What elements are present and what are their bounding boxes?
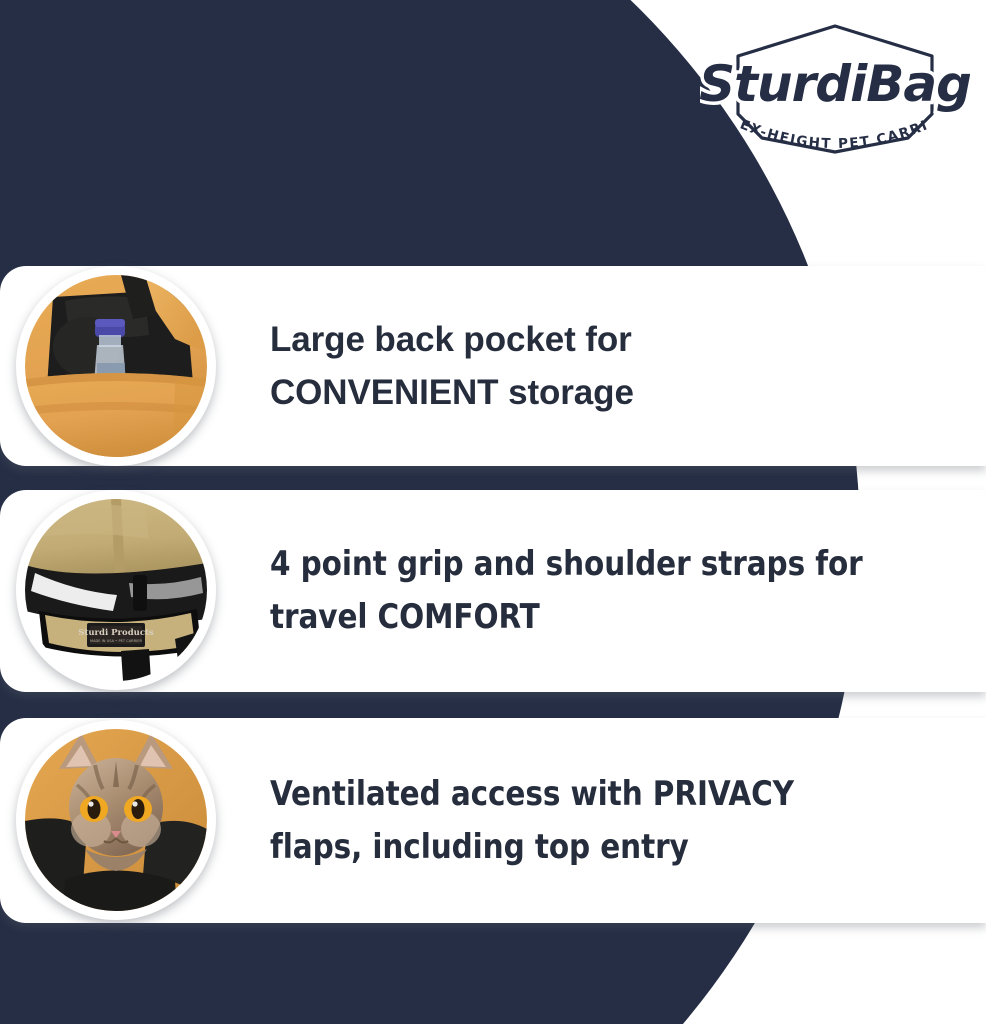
feature-thumb-grip-straps: Sturdi Products MADE IN USA • PET CARRIE… bbox=[16, 490, 216, 690]
feature-text-ventilated-access: Ventilated access with PRIVACY flaps, in… bbox=[270, 768, 947, 874]
kitten-in-carrier-photo bbox=[25, 729, 207, 911]
feature-text-grip-straps: 4 point grip and shoulder straps for tra… bbox=[270, 538, 947, 644]
feature-line-1: Large back pocket for bbox=[270, 313, 972, 366]
shoulder-strap-label-photo: Sturdi Products MADE IN USA • PET CARRIE… bbox=[25, 499, 207, 681]
feature-line-1: Ventilated access with PRIVACY bbox=[270, 768, 947, 821]
feature-line-2: flaps, including top entry bbox=[270, 821, 947, 874]
sturdi-products-label: Sturdi Products bbox=[78, 628, 154, 638]
feature-thumb-ventilated-access bbox=[16, 720, 216, 920]
logo-wordmark: SturdiBag bbox=[700, 55, 970, 113]
svg-text:MADE IN USA • PET CARRIER: MADE IN USA • PET CARRIER bbox=[90, 639, 143, 643]
feature-line-2: CONVENIENT storage bbox=[270, 366, 972, 419]
infographic-canvas: SturdiBag FLEX-HEIGHT PET CARRIER Large … bbox=[0, 0, 986, 1024]
feature-line-1: 4 point grip and shoulder straps for bbox=[270, 538, 947, 591]
feature-thumb-back-pocket bbox=[16, 266, 216, 466]
bag-pocket-with-water-bottle-photo bbox=[25, 275, 207, 457]
feature-text-back-pocket: Large back pocket for CONVENIENT storage bbox=[270, 313, 972, 419]
feature-line-2: travel COMFORT bbox=[270, 591, 947, 644]
sturdibag-logo: SturdiBag FLEX-HEIGHT PET CARRIER bbox=[700, 16, 970, 166]
